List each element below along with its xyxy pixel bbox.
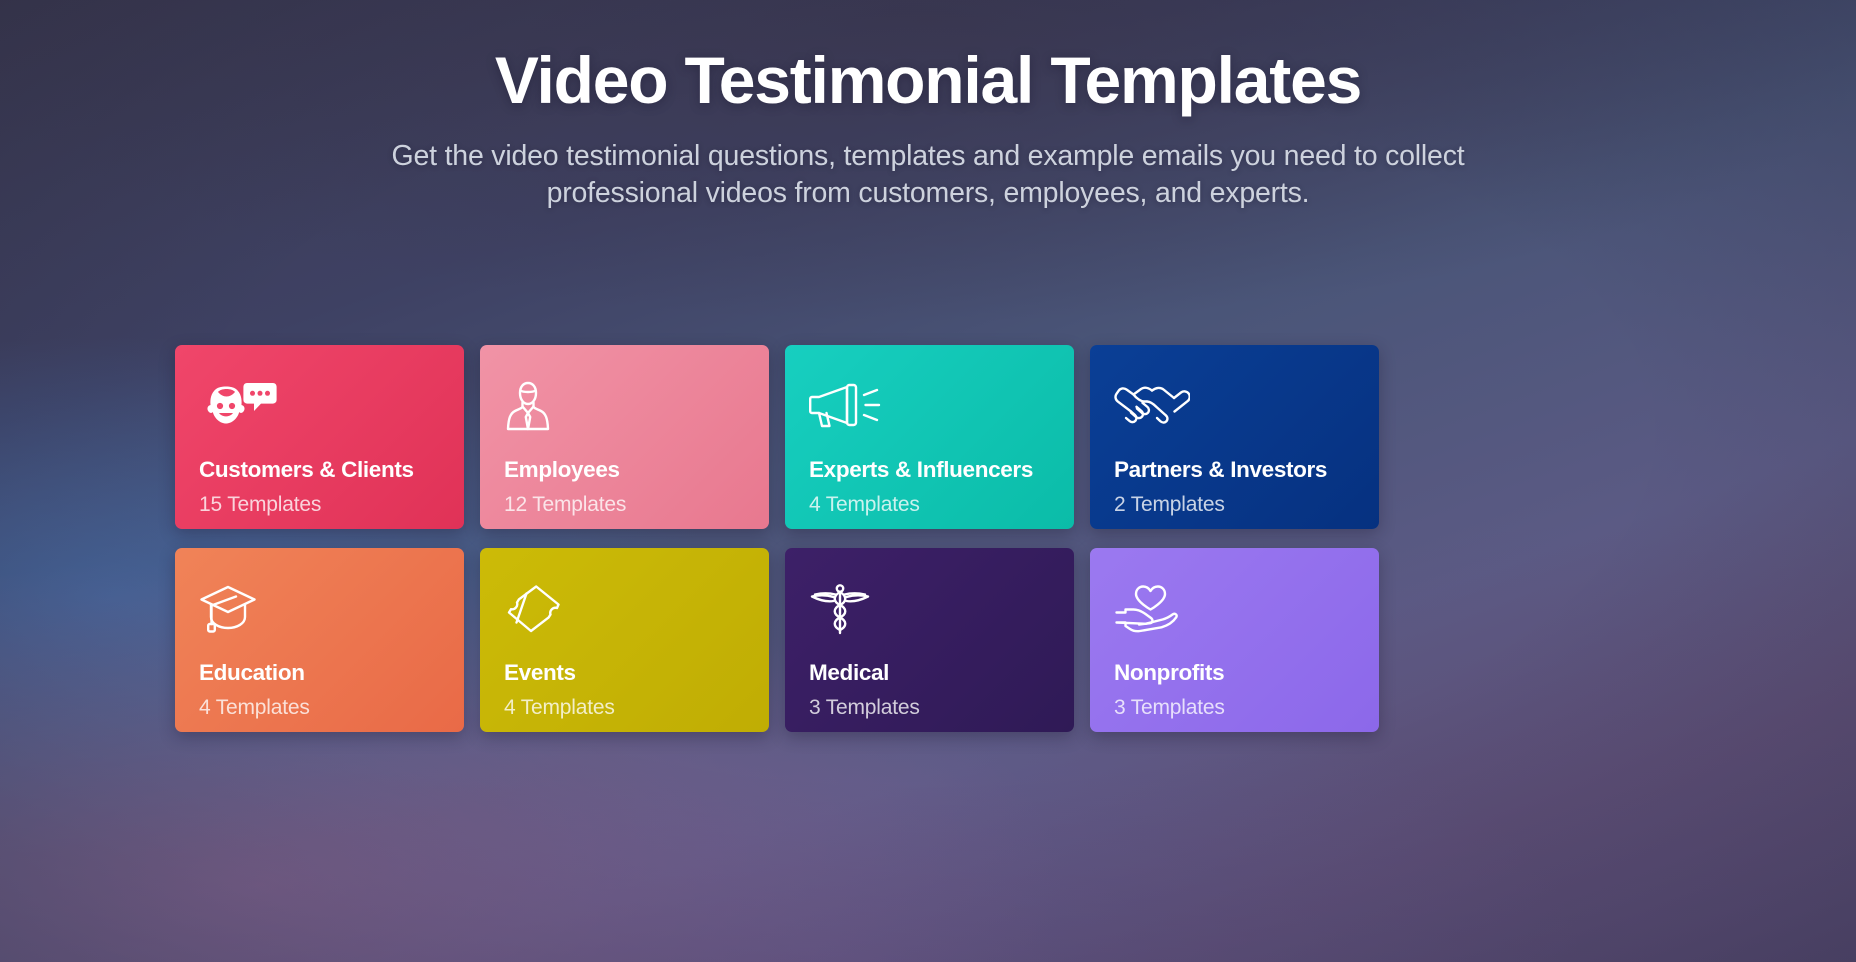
handshake-icon (1114, 380, 1355, 432)
category-card-title: Nonprofits (1114, 660, 1355, 686)
category-card-count: 4 Templates (199, 696, 440, 720)
category-card-count: 3 Templates (1114, 696, 1355, 720)
heart-in-hand-icon (1114, 583, 1355, 635)
category-card-count: 15 Templates (199, 493, 440, 517)
template-category-grid: Customers & Clients15 Templates Employee… (175, 345, 1680, 732)
category-card-title: Employees (504, 457, 745, 483)
page-root: Video Testimonial Templates Get the vide… (0, 0, 1856, 962)
category-card[interactable]: Events4 Templates (480, 548, 769, 732)
page-subtitle: Get the video testimonial questions, tem… (348, 138, 1508, 212)
category-card[interactable]: Education4 Templates (175, 548, 464, 732)
person-speech-bubble-icon (199, 380, 440, 432)
category-card-count: 4 Templates (809, 493, 1050, 517)
category-card-count: 2 Templates (1114, 493, 1355, 517)
category-card-title: Events (504, 660, 745, 686)
category-card-title: Education (199, 660, 440, 686)
category-card-title: Partners & Investors (1114, 457, 1355, 483)
category-card[interactable]: Nonprofits3 Templates (1090, 548, 1379, 732)
category-card[interactable]: Experts & Influencers4 Templates (785, 345, 1074, 529)
category-card[interactable]: Employees12 Templates (480, 345, 769, 529)
megaphone-icon (809, 380, 1050, 432)
business-person-icon (504, 380, 745, 432)
ticket-icon (504, 583, 745, 635)
category-card-title: Medical (809, 660, 1050, 686)
graduation-cap-icon (199, 583, 440, 635)
category-card[interactable]: Medical3 Templates (785, 548, 1074, 732)
header-section: Video Testimonial Templates Get the vide… (0, 0, 1856, 212)
category-card-count: 4 Templates (504, 696, 745, 720)
category-card-title: Experts & Influencers (809, 457, 1050, 483)
category-card[interactable]: Customers & Clients15 Templates (175, 345, 464, 529)
category-card-count: 3 Templates (809, 696, 1050, 720)
caduceus-icon (809, 583, 1050, 635)
category-card-count: 12 Templates (504, 493, 745, 517)
category-card[interactable]: Partners & Investors2 Templates (1090, 345, 1379, 529)
category-card-title: Customers & Clients (199, 457, 440, 483)
page-title: Video Testimonial Templates (0, 45, 1856, 116)
